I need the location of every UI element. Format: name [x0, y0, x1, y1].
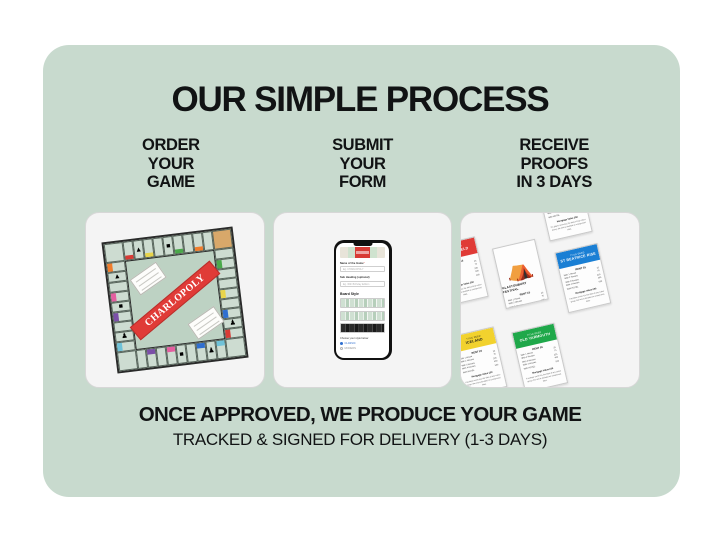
- panels-row: ▲■ ■♟ ▲■♟ ♟ CHARLOPOLY: [85, 212, 640, 388]
- board-style-thumb-1[interactable]: [340, 298, 385, 308]
- steps-row: ORDER YOUR GAME SUBMIT YOUR FORM RECEIVE…: [75, 136, 650, 198]
- title-deed-card: TITLE DEEDICELANDRENT £5With 1 House25Wi…: [460, 326, 507, 388]
- title-deed-footnote: If a player owns ALL the sites of any co…: [460, 284, 484, 300]
- phone-mockup: Name of the Game* Eg. CHARLOPOLY Sub Hea…: [334, 240, 392, 360]
- title-deed-card: ⛺GLASTONBURY FESTIVALRENT £5With 1 House…: [492, 239, 549, 309]
- board-corner-jail: [117, 350, 138, 371]
- board-tile-colour-band: [167, 346, 175, 351]
- title-deed-card: TITLE DEEDST BEATRICE RISERENT £5With 1 …: [555, 243, 612, 313]
- form-radio-modern[interactable]: MODERN: [340, 347, 385, 350]
- board-tile-colour-band: [113, 313, 118, 321]
- step-heading-submit: SUBMIT YOUR FORM: [267, 136, 459, 198]
- title-deed-body: RENT £5With 1 House25With 2 Houses75With…: [460, 253, 487, 303]
- board-tile-colour-band: [216, 260, 221, 268]
- panel-title-deed-proofs[interactable]: TITLE DEEDSPRINGFIELDRENT £5With 1 House…: [460, 212, 640, 388]
- step-heading-order: ORDER YOUR GAME: [75, 136, 267, 198]
- board-tile-icon: ■: [118, 303, 123, 310]
- board-corner-go: [225, 337, 246, 358]
- phone-screen: Name of the Game* Eg. CHARLOPOLY Sub Hea…: [336, 243, 389, 358]
- title-deed-body: RENT £5With 1 House25With 2 Houses75With…: [560, 260, 610, 310]
- step-heading-receive: RECEIVE PROOFS IN 3 DAYS: [458, 136, 650, 198]
- radio-selected-icon: [340, 342, 343, 345]
- board-tile-icon: ♟: [208, 347, 215, 355]
- title-deed-card: TITLE DEEDSPRINGFIELDRENT £5With 1 House…: [460, 236, 489, 306]
- title-deed-rent-value: 500: [476, 274, 480, 278]
- radio-unselected-icon: [340, 347, 343, 350]
- board-tile-icon: ♟: [121, 333, 128, 341]
- title-deed-rent-value: 500: [580, 212, 584, 213]
- board-corner-free-parking: [104, 242, 125, 263]
- form-label-subheading: Sub Heading (optional): [340, 276, 385, 279]
- title-deed-card: TITLE DEEDMARGATERENT £5With 1 House25Wi…: [536, 212, 593, 241]
- form-label-subheading-text: Sub Heading (optional): [340, 276, 369, 279]
- board-tile-icon: ♟: [229, 319, 236, 327]
- form-choose-style-label: Choose your style below: [340, 337, 385, 340]
- form-radio-modern-label: MODERN: [345, 347, 357, 350]
- board-tile-colour-band: [125, 254, 133, 259]
- form-radio-classic[interactable]: CLASSIC: [340, 342, 385, 345]
- title-deed-rent-value: 225: [542, 299, 546, 303]
- board-tile-colour-band: [220, 290, 225, 298]
- title-deed-rent-value: 400: [542, 302, 546, 306]
- form-input-subheading[interactable]: Eg. 30th Birthday Edition: [340, 281, 385, 287]
- panel-order-form[interactable]: Name of the Game* Eg. CHARLOPOLY Sub Hea…: [273, 212, 453, 388]
- board-tile-colour-band: [194, 246, 202, 251]
- board: ▲■ ■♟ ▲■♟ ♟ CHARLOPOLY: [101, 226, 248, 373]
- title-deed-rent-row: With HOTEL500: [511, 306, 547, 310]
- form-section-board-style: Board Style: [340, 292, 385, 296]
- board-tile-colour-band: [225, 330, 230, 338]
- form-label-game-name: Name of the Game*: [340, 262, 385, 265]
- board-tile-colour-band: [175, 248, 183, 253]
- title-deed-rent-value: 500: [556, 360, 560, 364]
- page-title: OUR SIMPLE PROCESS: [0, 82, 720, 118]
- title-deed-body: RENT £5With 1 House25With 2 Houses75With…: [460, 343, 506, 388]
- board-tile-colour-band: [222, 310, 227, 318]
- form-radio-classic-label: CLASSIC: [345, 342, 356, 345]
- board-tile-icon: ▲: [113, 273, 121, 281]
- board-corner-go-to-jail: [212, 229, 233, 250]
- poster-root: OUR SIMPLE PROCESS ORDER YOUR GAME SUBMI…: [0, 0, 720, 540]
- title-deed-rent-value: 500: [543, 306, 547, 310]
- title-deed-body: RENT £5With 1 House25With 2 Houses75With…: [516, 339, 566, 388]
- title-deed-card: TITLE DEEDOLD YARMOUTHRENT £5With 1 Hous…: [512, 323, 569, 388]
- board-tile-colour-band: [107, 263, 112, 271]
- title-deed-rent-value: 500: [599, 280, 603, 284]
- board-tile-icon: ■: [166, 242, 171, 249]
- title-deed-body: RENT £5With 1 House25With 2 Houses75With…: [541, 212, 591, 238]
- board-tile-colour-band: [216, 340, 224, 345]
- board-tile-colour-band: [145, 252, 153, 257]
- board-tile-icon: ▲: [135, 246, 143, 254]
- form-banner-image: [340, 247, 385, 258]
- board-tile-colour-band: [196, 343, 204, 348]
- board-tile-colour-band: [117, 343, 122, 351]
- form-input-game-name[interactable]: Eg. CHARLOPOLY: [340, 266, 385, 272]
- board-tile-colour-band: [147, 349, 155, 354]
- footer-line-2: TRACKED & SIGNED FOR DELIVERY (1-3 DAYS): [0, 430, 720, 449]
- form-label-game-name-text: Name of the Game: [340, 262, 364, 265]
- board-style-thumb-2[interactable]: [340, 311, 385, 321]
- title-deed-cards-image: TITLE DEEDSPRINGFIELDRENT £5With 1 House…: [460, 212, 640, 388]
- board-game-image: ▲■ ■♟ ▲■♟ ♟ CHARLOPOLY: [101, 226, 248, 373]
- panel-board-game[interactable]: ▲■ ■♟ ▲■♟ ♟ CHARLOPOLY: [85, 212, 265, 388]
- board-style-thumb-3[interactable]: [340, 323, 385, 333]
- title-deed-rent-label: With 4 Houses: [511, 307, 525, 309]
- phone-notch: [353, 241, 372, 246]
- footer-line-1: ONCE APPROVED, WE PRODUCE YOUR GAME: [0, 404, 720, 426]
- title-deed-rent-value: 500: [495, 364, 499, 368]
- required-marker: *: [364, 262, 365, 265]
- board-tile-colour-band: [111, 293, 116, 301]
- board-tile-icon: ■: [179, 350, 184, 357]
